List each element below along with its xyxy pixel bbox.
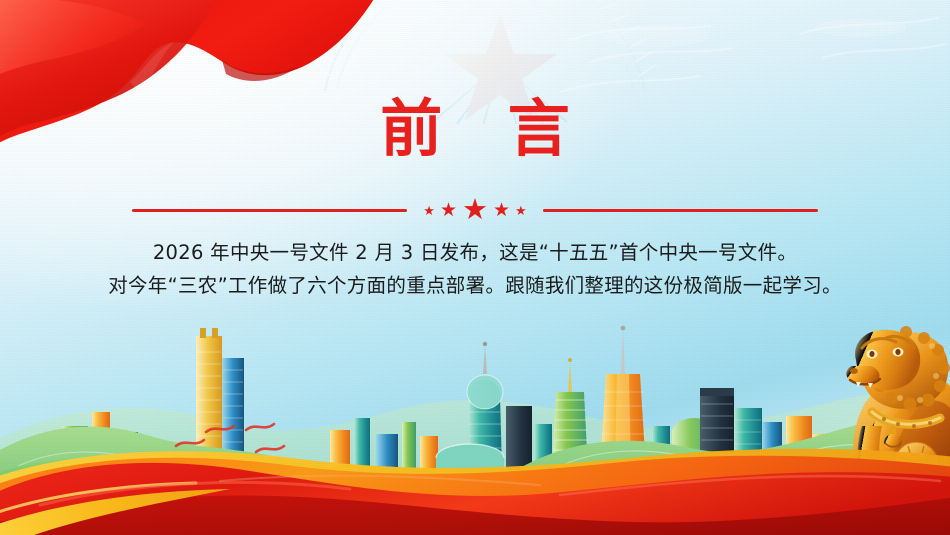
star-divider: ★ ★ ★ ★ ★: [0, 200, 950, 220]
title-block: 前 言: [0, 98, 950, 160]
star-icon-5: ★: [515, 204, 527, 217]
star-icon-3: ★: [462, 196, 488, 225]
page-title: 前 言: [0, 98, 950, 160]
intro-paragraphs: 2026 年中央一号文件 2 月 3 日发布，这是“十五五”首个中央一号文件。 …: [0, 236, 950, 302]
red-flag-decoration: [0, 0, 410, 194]
red-gold-ribbon: [0, 385, 950, 535]
slide-root: 前 言 ★ ★ ★ ★ ★ 2026 年中央一号文件 2 月 3 日发布，这是“…: [0, 0, 950, 535]
star-icon-2: ★: [440, 201, 457, 220]
divider-rule-left: [132, 209, 407, 212]
divider-rule-right: [543, 209, 818, 212]
intro-paragraph-1: 2026 年中央一号文件 2 月 3 日发布，这是“十五五”首个中央一号文件。: [0, 236, 950, 269]
star-icon-4: ★: [493, 201, 510, 220]
star-icon-1: ★: [423, 204, 435, 217]
intro-paragraph-2: 对今年“三农”工作做了六个方面的重点部署。跟随我们整理的这份极简版一起学习。: [0, 269, 950, 302]
divider-stars: ★ ★ ★ ★ ★: [423, 196, 526, 225]
